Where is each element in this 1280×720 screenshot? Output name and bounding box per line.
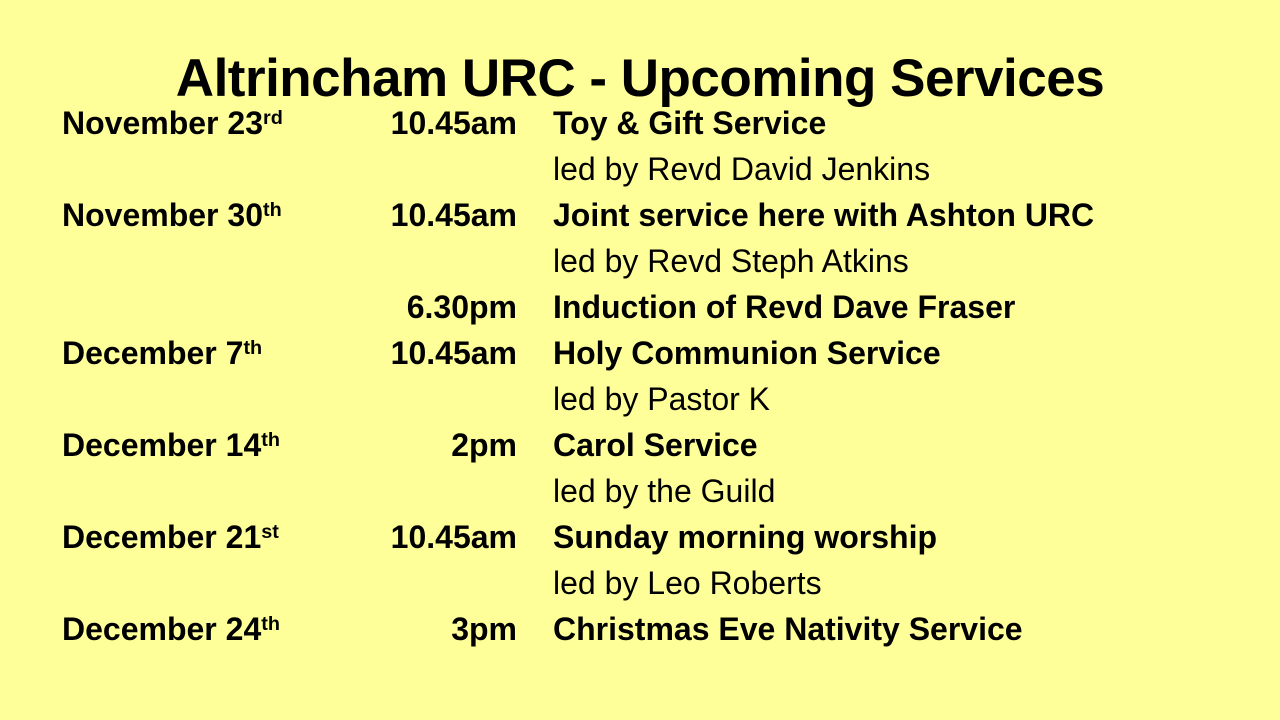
row-time: 10.45am [327, 192, 517, 238]
row-date-ordinal: st [261, 521, 279, 543]
row-date-text: November 30 [62, 197, 263, 233]
row-date-text: December 14 [62, 427, 261, 463]
row-service-leader: led by Revd Steph Atkins [553, 238, 1242, 284]
row-time: 10.45am [327, 514, 517, 560]
row-service: Holy Communion Service led by Pastor K [517, 330, 1242, 422]
row-service-leader: led by Pastor K [553, 376, 1242, 422]
row-date-ordinal: rd [263, 107, 283, 129]
row-service: Toy & Gift Service led by Revd David Jen… [517, 100, 1242, 192]
table-row: December 24th 3pm Christmas Eve Nativity… [62, 606, 1242, 657]
table-row: 6.30pm Induction of Revd Dave Fraser [62, 284, 1242, 330]
row-date: November 30th [62, 192, 327, 243]
table-row: November 23rd 10.45am Toy & Gift Service… [62, 100, 1242, 192]
row-service-title: Carol Service [553, 422, 1242, 468]
row-service-leader: led by Revd David Jenkins [553, 146, 1242, 192]
row-date: November 23rd [62, 100, 327, 151]
row-service: Sunday morning worship led by Leo Robert… [517, 514, 1242, 606]
row-date-text: December 21 [62, 519, 261, 555]
row-date-ordinal: th [261, 429, 280, 451]
row-date-text: December 24 [62, 611, 261, 647]
row-service: Carol Service led by the Guild [517, 422, 1242, 514]
row-service-title: Induction of Revd Dave Fraser [553, 284, 1242, 330]
row-date: December 14th [62, 422, 327, 473]
row-date-ordinal: th [263, 199, 282, 221]
row-time: 10.45am [327, 330, 517, 376]
row-date: December 7th [62, 330, 327, 381]
row-date-text: December 7 [62, 335, 243, 371]
slide-canvas: Altrincham URC - Upcoming Services Novem… [0, 0, 1280, 720]
row-service-leader: led by the Guild [553, 468, 1242, 514]
row-date-ordinal: th [261, 613, 280, 635]
row-time: 6.30pm [327, 284, 517, 330]
row-time: 2pm [327, 422, 517, 468]
row-time: 10.45am [327, 100, 517, 146]
row-service-title: Sunday morning worship [553, 514, 1242, 560]
row-service-title: Joint service here with Ashton URC [553, 192, 1242, 238]
row-service: Christmas Eve Nativity Service [517, 606, 1242, 652]
row-service: Joint service here with Ashton URC led b… [517, 192, 1242, 284]
row-time: 3pm [327, 606, 517, 652]
services-schedule-table: November 23rd 10.45am Toy & Gift Service… [62, 100, 1242, 657]
row-service-title: Holy Communion Service [553, 330, 1242, 376]
table-row: December 21st 10.45am Sunday morning wor… [62, 514, 1242, 606]
row-date: December 21st [62, 514, 327, 565]
row-date-ordinal: th [243, 337, 262, 359]
table-row: December 14th 2pm Carol Service led by t… [62, 422, 1242, 514]
row-service: Induction of Revd Dave Fraser [517, 284, 1242, 330]
row-service-leader: led by Leo Roberts [553, 560, 1242, 606]
table-row: December 7th 10.45am Holy Communion Serv… [62, 330, 1242, 422]
row-date-text: November 23 [62, 105, 263, 141]
row-service-title: Toy & Gift Service [553, 100, 1242, 146]
row-service-title: Christmas Eve Nativity Service [553, 606, 1242, 652]
row-date: December 24th [62, 606, 327, 657]
table-row: November 30th 10.45am Joint service here… [62, 192, 1242, 284]
